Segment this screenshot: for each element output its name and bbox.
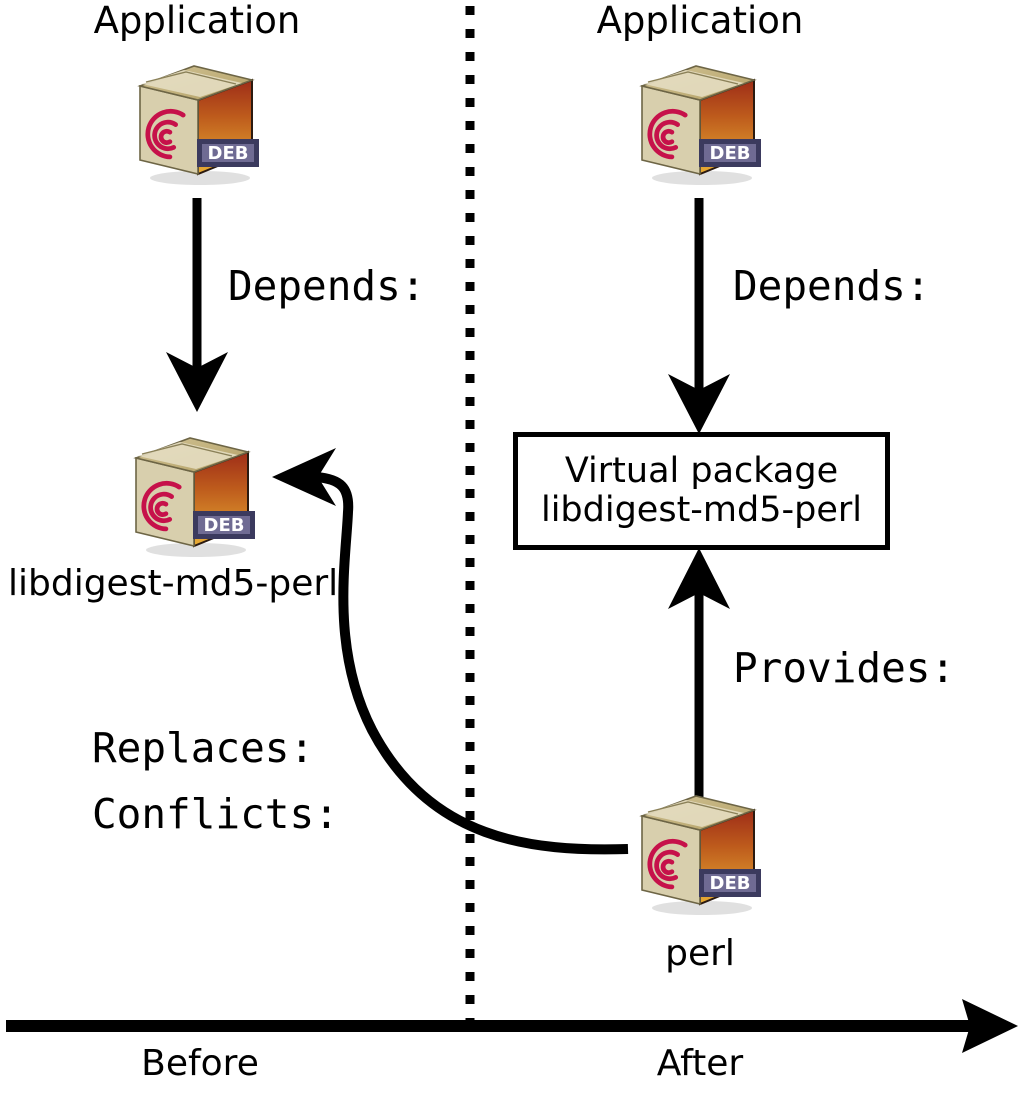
deb-badge-icon: DEB <box>197 139 259 167</box>
before-column-heading: Application <box>47 2 347 39</box>
before-dependency-package-icon: DEB <box>120 428 265 560</box>
provides-label: Provides: <box>733 648 955 689</box>
virtual-package-line-1: Virtual package <box>565 452 838 491</box>
after-application-package-icon: DEB <box>626 56 771 188</box>
after-provider-package-label: perl <box>600 936 800 972</box>
before-application-package-icon: DEB <box>124 56 269 188</box>
svg-text:DEB: DEB <box>208 143 249 164</box>
svg-text:DEB: DEB <box>710 873 751 894</box>
virtual-package-box: Virtual package libdigest-md5-perl <box>513 432 890 550</box>
depends-arrow-before-head-icon <box>166 352 228 412</box>
timeline-axis-head-icon <box>962 999 1018 1053</box>
deb-badge-icon: DEB <box>193 511 255 539</box>
after-column-heading: Application <box>550 2 850 39</box>
svg-text:DEB: DEB <box>204 515 245 536</box>
replaces-label: Replaces: <box>92 728 314 769</box>
provides-arrow-head-icon <box>668 548 730 609</box>
deb-badge-icon: DEB <box>699 869 761 897</box>
conflicts-label: Conflicts: <box>92 794 339 835</box>
svg-text:DEB: DEB <box>710 143 751 164</box>
deb-badge-icon: DEB <box>699 139 761 167</box>
diagram-canvas: Application <box>0 0 1024 1094</box>
timeline-before-label: Before <box>70 1046 330 1082</box>
depends-arrow-after-head-icon <box>668 374 730 434</box>
virtual-package-line-2: libdigest-md5-perl <box>541 491 862 530</box>
timeline-after-label: After <box>570 1046 830 1082</box>
after-provider-package-icon: DEB <box>626 786 771 918</box>
replaces-conflicts-curved-arrow-head-icon <box>272 448 336 506</box>
before-dependency-package-label: libdigest-md5-perl <box>8 566 388 602</box>
after-depends-label: Depends: <box>733 266 930 307</box>
before-depends-label: Depends: <box>228 266 425 307</box>
